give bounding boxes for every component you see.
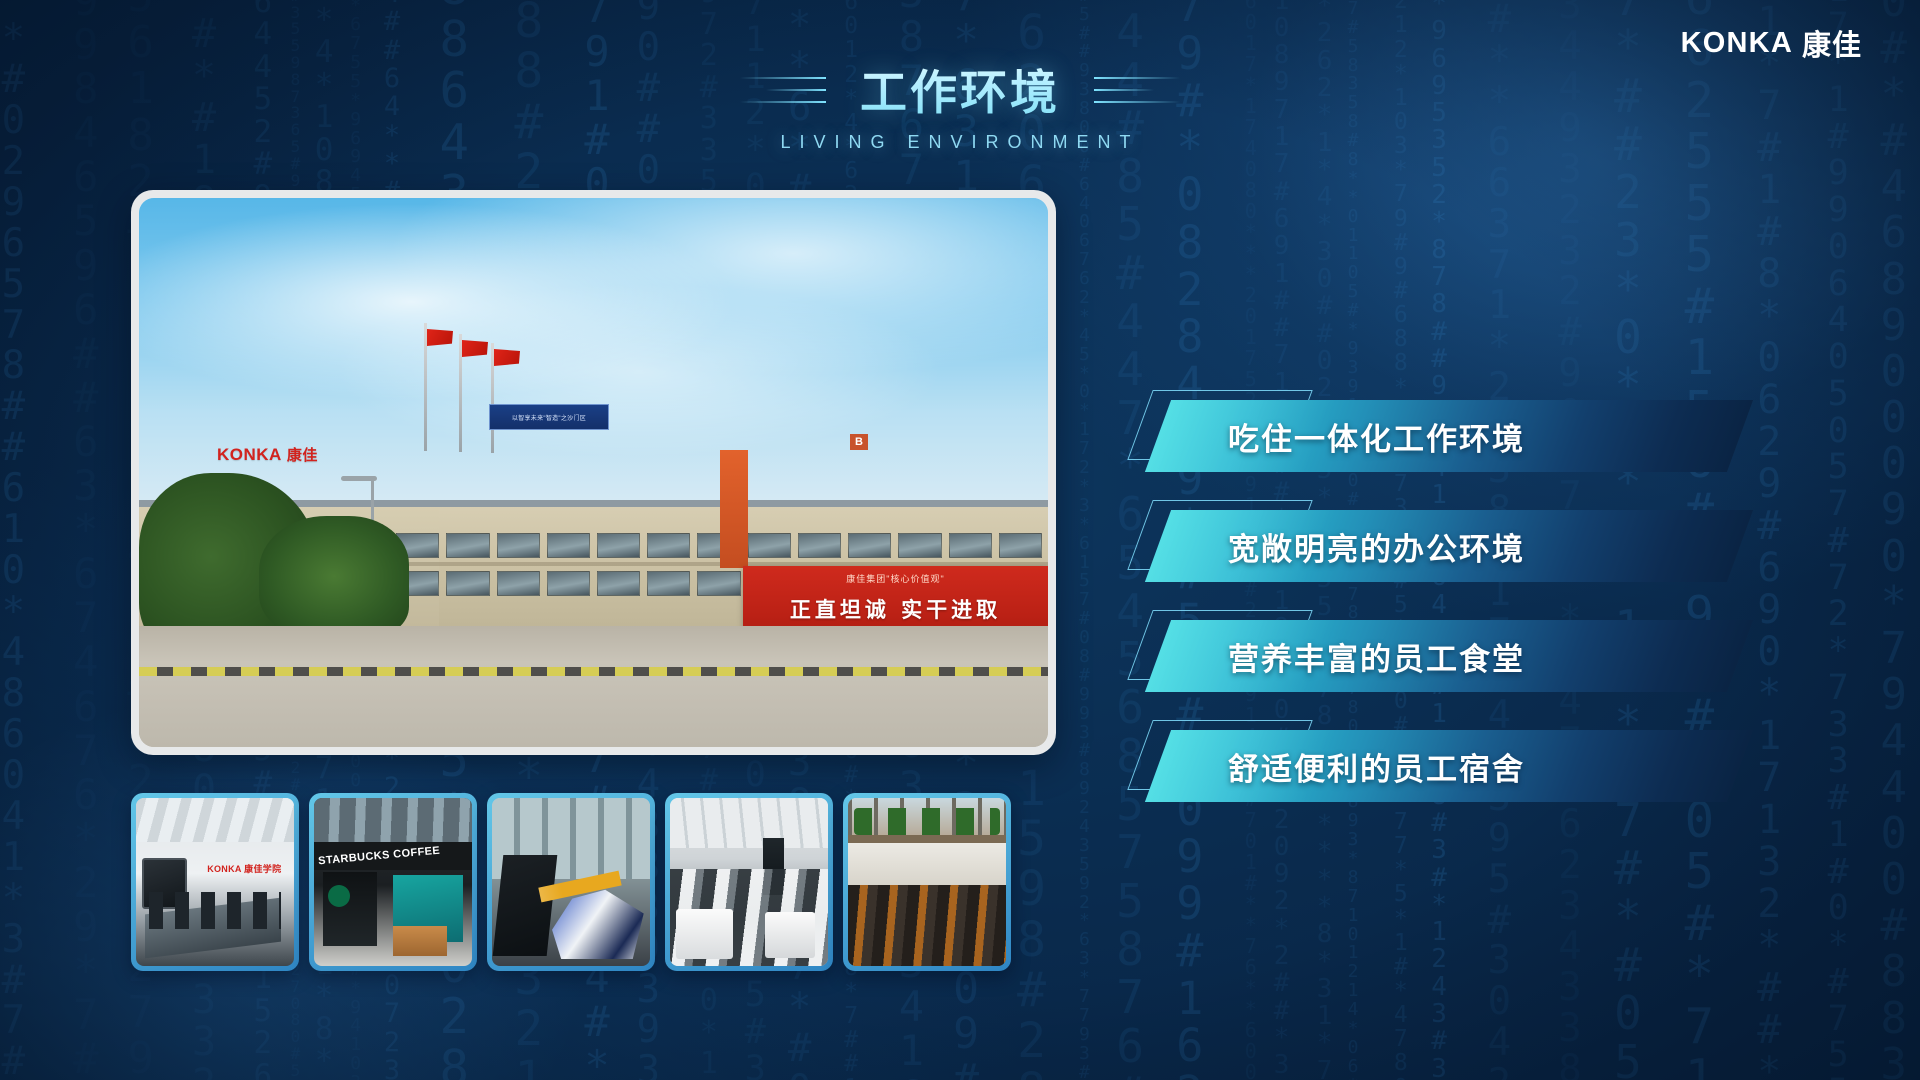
thumbnail-meeting-room[interactable]: KONKA 康佳学院 (131, 793, 299, 971)
core-values-slogan: 正直坦诚 实干进取 (743, 594, 1048, 624)
building-sign-cn: 康佳 (287, 444, 318, 465)
road-hazard-stripes (139, 667, 1048, 676)
flag-pole-1-icon (424, 323, 427, 451)
banner-staff-canteen[interactable]: 营养丰富的员工食堂 (1140, 620, 1740, 692)
konka-academy-wall-sign: KONKA 康佳学院 (207, 862, 281, 875)
title-decoration-right-icon (1086, 63, 1198, 115)
building-block-label: B (850, 434, 868, 450)
thumbnail-cafe-lounge[interactable] (843, 793, 1011, 971)
page-title-block: 工作环境 LIVING ENVIRONMENT (0, 54, 1920, 153)
matrix-column: * * # 0 2 9 6 5 7 8 # # 6 1 0 * 4 8 6 0 … (0, 0, 37, 1080)
starbucks-sign-text: STARBUCKS COFFEE (318, 845, 441, 868)
banner-label: 宽敞明亮的办公环境 (1228, 510, 1525, 582)
banner-label: 舒适便利的员工宿舍 (1228, 730, 1525, 802)
matrix-column: 5 2 1 7 * 1 # 9 9 0 6 4 0 5 0 5 7 # 7 2 … (1817, 0, 1859, 1080)
matrix-column: 5 1 * 7 # 1 # 8 * 0 6 2 9 # 6 9 0 * 1 7 … (1745, 0, 1793, 1080)
matrix-column: 9 9 8 4 6 5 9 6 # # 6 3 * 6 7 4 6 7 6 * … (61, 0, 111, 1080)
orange-column (720, 450, 748, 568)
title-decoration-left-icon (722, 63, 834, 115)
banner-integrated-living[interactable]: 吃住一体化工作环境 (1140, 400, 1740, 472)
tree-cluster-2 (259, 516, 409, 637)
main-photo: KONKA 康佳 以智享未来"智造"之沙门区 B 康佳东方信息电器有限公司 个人… (139, 198, 1048, 747)
thumbnail-starbucks[interactable]: STARBUCKS COFFEE (309, 793, 477, 971)
page-title: 工作环境 (860, 54, 1060, 123)
slide-background: * * # 0 2 9 6 5 7 8 # # 6 1 0 * 4 8 6 0 … (0, 0, 1920, 1080)
matrix-column: 4 5 # 5 # # 9 3 8 0 0 # 6 4 0 6 7 6 2 * … (1074, 0, 1096, 1080)
main-photo-frame: KONKA 康佳 以智享未来"智造"之沙门区 B 康佳东方信息电器有限公司 个人… (131, 190, 1056, 755)
overhead-blue-sign: 以智享未来"智造"之沙门区 (489, 404, 609, 430)
thumbnail-canteen[interactable] (665, 793, 833, 971)
feature-banner-list: 吃住一体化工作环境 宽敞明亮的办公环境 营养丰富的员工食堂 舒适便利的员工宿舍 (1140, 400, 1740, 840)
thumbnail-gym[interactable] (487, 793, 655, 971)
banner-staff-dormitory[interactable]: 舒适便利的员工宿舍 (1140, 730, 1740, 802)
building-konka-sign: KONKA 康佳 (217, 444, 318, 465)
matrix-column: 6 # 0 # * # 4 6 8 9 0 0 0 9 0 * 7 9 4 4 … (1867, 0, 1920, 1080)
flag-pole-2-icon (459, 334, 462, 452)
banner-bright-office[interactable]: 宽敞明亮的办公环境 (1140, 510, 1740, 582)
flag-pole-3-icon (491, 343, 494, 453)
road-ground (139, 626, 1048, 747)
banner-label: 营养丰富的员工食堂 (1228, 620, 1525, 692)
banner-label: 吃住一体化工作环境 (1228, 400, 1525, 472)
building-sign-en: KONKA (217, 445, 282, 465)
thumbnail-strip: KONKA 康佳学院 STARBUCKS COFFEE (131, 793, 1011, 971)
page-subtitle: LIVING ENVIRONMENT (0, 132, 1920, 153)
core-values-heading: 康佳集团"核心价值观" (743, 572, 1048, 585)
